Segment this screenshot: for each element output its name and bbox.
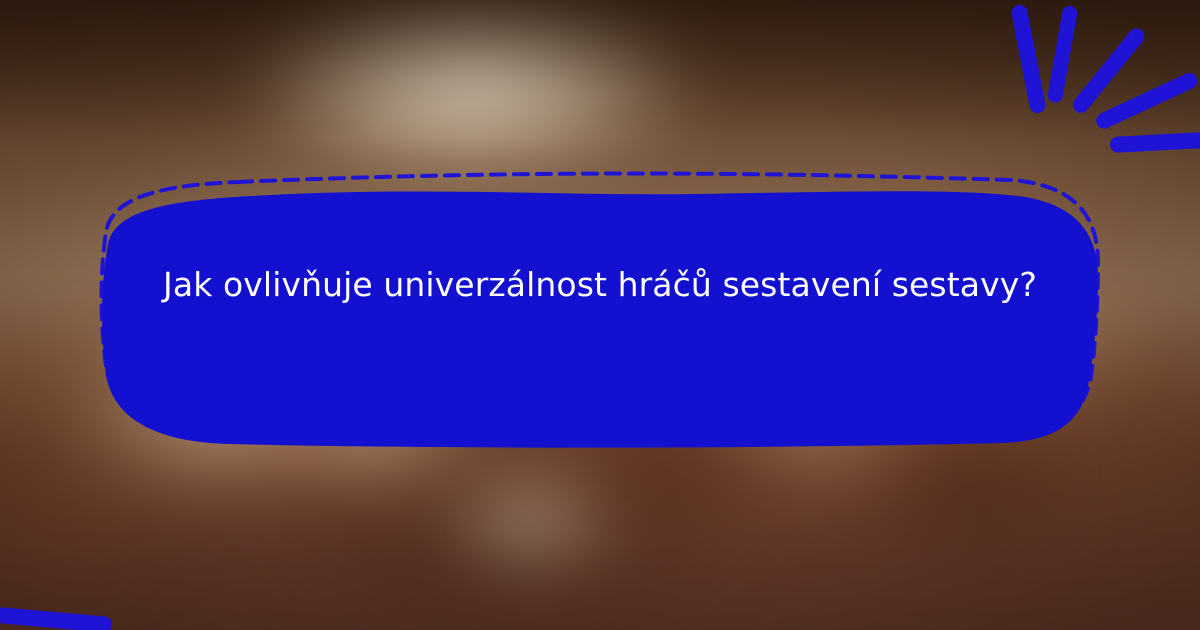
question-card: Jak ovlivňuje univerzálnost hráčů sestav… [0, 0, 1200, 630]
blob-shape-svg [0, 0, 1200, 630]
blob-fill [102, 191, 1098, 447]
social-card: Jak ovlivňuje univerzálnost hráčů sestav… [0, 0, 1200, 630]
question-text: Jak ovlivňuje univerzálnost hráčů sestav… [160, 258, 1040, 312]
